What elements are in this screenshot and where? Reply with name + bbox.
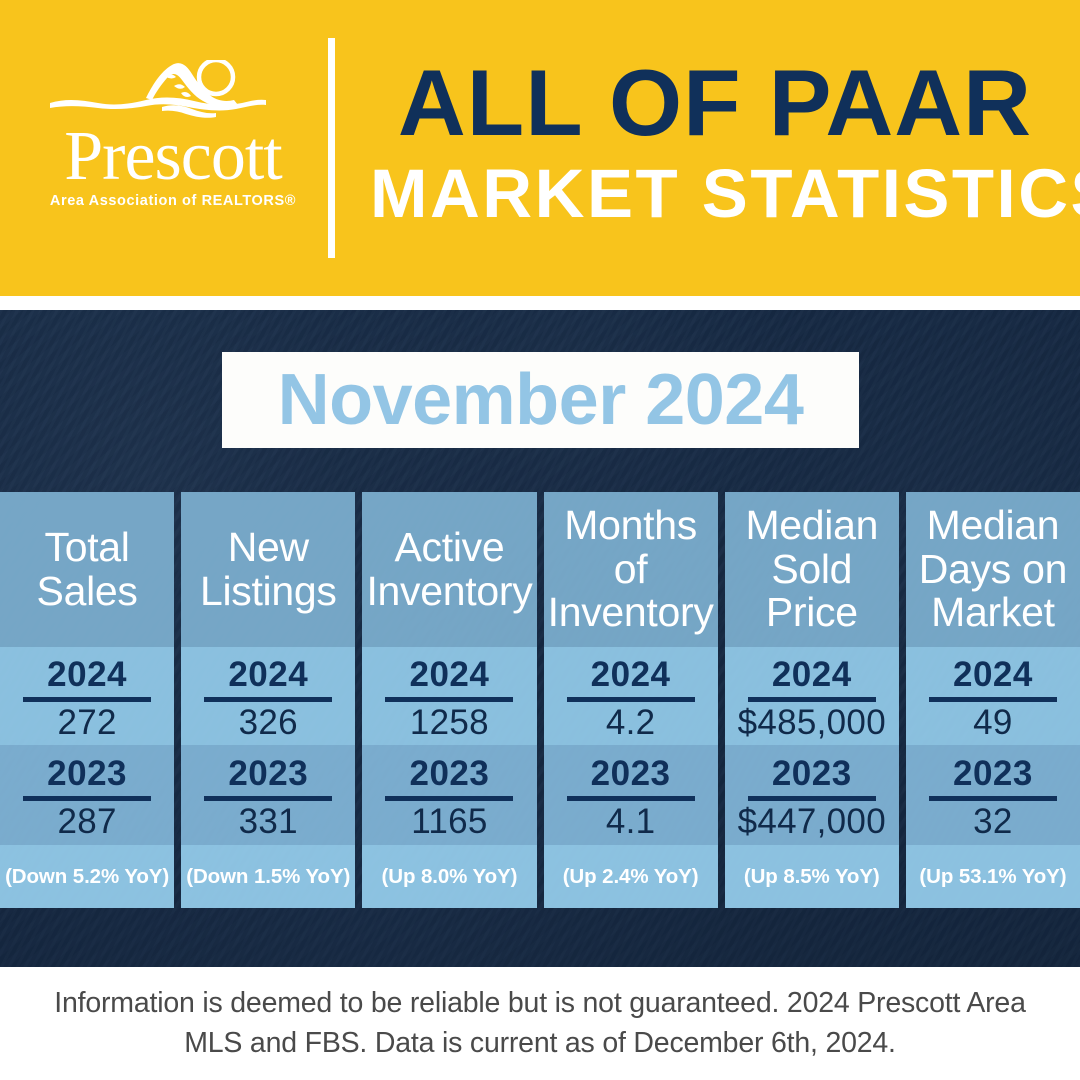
year-underline	[929, 796, 1057, 801]
stat-header-median-sold-price: MedianSoldPrice	[725, 492, 899, 647]
stat-column-new-listings: NewListings 2024 326 2023 331 (Down 1.5%…	[181, 492, 355, 908]
stat-value-2024: 326	[239, 705, 298, 742]
stat-value-2024: $485,000	[738, 705, 886, 742]
yoy-change-label: (Up 8.0% YoY)	[382, 865, 518, 889]
year-label-2024: 2024	[591, 657, 671, 692]
stat-2023-active-inventory: 2023 1165	[362, 745, 536, 845]
stat-value-2023: 331	[239, 804, 298, 841]
stat-column-median-sold-price: MedianSoldPrice 2024 $485,000 2023 $447,…	[725, 492, 899, 908]
stat-2024-median-days-on-market: 2024 49	[906, 647, 1080, 745]
year-underline	[385, 697, 513, 702]
stat-value-2024: 49	[973, 705, 1013, 742]
year-label-2023: 2023	[953, 756, 1033, 791]
stat-header-new-listings: NewListings	[181, 492, 355, 647]
logo-wordmark: Prescott	[28, 124, 318, 191]
page-title: ALL OF PAAR	[370, 52, 1060, 154]
year-label-2024: 2024	[47, 657, 127, 692]
footer: Information is deemed to be reliable but…	[0, 967, 1080, 1080]
stat-2023-total-sales: 2023 287	[0, 745, 174, 845]
year-underline	[204, 796, 332, 801]
year-underline	[23, 796, 151, 801]
year-underline	[567, 697, 695, 702]
stat-2024-new-listings: 2024 326	[181, 647, 355, 745]
year-label-2024: 2024	[409, 657, 489, 692]
stat-yoy-new-listings: (Down 1.5% YoY)	[181, 845, 355, 908]
prescott-mountain-sun-logo-icon	[48, 60, 298, 122]
stat-value-2024: 1258	[410, 705, 489, 742]
stat-header-label: TotalSales	[37, 526, 138, 613]
stat-value-2023: 4.1	[606, 804, 656, 841]
stat-2023-new-listings: 2023 331	[181, 745, 355, 845]
stat-header-label: ActiveInventory	[366, 526, 532, 613]
stat-header-label: MonthsofInventory	[548, 504, 714, 634]
year-label-2023: 2023	[47, 756, 127, 791]
header-banner: Prescott Area Association of REALTORS® A…	[0, 0, 1080, 296]
logo-tagline: Area Association of REALTORS®	[28, 193, 318, 209]
disclaimer-text: Information is deemed to be reliable but…	[40, 984, 1040, 1063]
stat-column-total-sales: TotalSales 2024 272 2023 287 (Down 5.2% …	[0, 492, 174, 908]
yoy-change-label: (Down 1.5% YoY)	[186, 865, 350, 889]
year-label-2023: 2023	[228, 756, 308, 791]
yoy-change-label: (Up 2.4% YoY)	[563, 865, 699, 889]
stat-header-total-sales: TotalSales	[0, 492, 174, 647]
year-underline	[929, 697, 1057, 702]
paar-logo: Prescott Area Association of REALTORS®	[28, 60, 318, 240]
market-statistics-infographic: Prescott Area Association of REALTORS® A…	[0, 0, 1080, 1080]
report-month-label: November 2024	[278, 364, 804, 436]
year-label-2023: 2023	[772, 756, 852, 791]
year-label-2023: 2023	[409, 756, 489, 791]
stat-column-median-days-on-market: MedianDays onMarket 2024 49 2023 32 (Up …	[906, 492, 1080, 908]
yoy-change-label: (Down 5.2% YoY)	[5, 865, 169, 889]
stat-yoy-active-inventory: (Up 8.0% YoY)	[362, 845, 536, 908]
header-vertical-divider	[328, 38, 335, 258]
stat-header-label: MedianSoldPrice	[745, 504, 878, 634]
stat-2024-months-of-inventory: 2024 4.2	[544, 647, 718, 745]
stat-value-2023: 1165	[411, 804, 487, 841]
stat-value-2024: 4.2	[606, 705, 656, 742]
yoy-change-label: (Up 8.5% YoY)	[744, 865, 880, 889]
stat-column-active-inventory: ActiveInventory 2024 1258 2023 1165 (Up …	[362, 492, 536, 908]
stat-2023-median-sold-price: 2023 $447,000	[725, 745, 899, 845]
stat-column-months-of-inventory: MonthsofInventory 2024 4.2 2023 4.1 (Up …	[544, 492, 718, 908]
stat-yoy-median-sold-price: (Up 8.5% YoY)	[725, 845, 899, 908]
stat-value-2023: 32	[973, 804, 1013, 841]
stat-header-label: NewListings	[200, 526, 337, 613]
date-banner: November 2024	[222, 352, 859, 448]
stat-2023-median-days-on-market: 2023 32	[906, 745, 1080, 845]
header-title-group: ALL OF PAAR MARKET STATISTICS	[370, 52, 1060, 231]
stat-2023-months-of-inventory: 2023 4.1	[544, 745, 718, 845]
stat-yoy-months-of-inventory: (Up 2.4% YoY)	[544, 845, 718, 908]
stat-value-2024: 272	[57, 705, 116, 742]
year-underline	[204, 697, 332, 702]
stat-value-2023: $447,000	[738, 804, 886, 841]
year-label-2024: 2024	[772, 657, 852, 692]
stat-header-median-days-on-market: MedianDays onMarket	[906, 492, 1080, 647]
stat-header-months-of-inventory: MonthsofInventory	[544, 492, 718, 647]
stat-yoy-total-sales: (Down 5.2% YoY)	[0, 845, 174, 908]
stat-yoy-median-days-on-market: (Up 53.1% YoY)	[906, 845, 1080, 908]
year-underline	[385, 796, 513, 801]
stat-header-label: MedianDays onMarket	[919, 504, 1067, 634]
stat-header-active-inventory: ActiveInventory	[362, 492, 536, 647]
page-subtitle: MARKET STATISTICS	[370, 156, 1060, 232]
year-underline	[748, 796, 876, 801]
stat-value-2023: 287	[57, 804, 116, 841]
stat-2024-active-inventory: 2024 1258	[362, 647, 536, 745]
stat-2024-total-sales: 2024 272	[0, 647, 174, 745]
year-underline	[23, 697, 151, 702]
year-label-2023: 2023	[591, 756, 671, 791]
year-label-2024: 2024	[228, 657, 308, 692]
year-underline	[567, 796, 695, 801]
statistics-table: TotalSales 2024 272 2023 287 (Down 5.2% …	[0, 492, 1080, 908]
stat-2024-median-sold-price: 2024 $485,000	[725, 647, 899, 745]
year-label-2024: 2024	[953, 657, 1033, 692]
year-underline	[748, 697, 876, 702]
yoy-change-label: (Up 53.1% YoY)	[919, 865, 1066, 889]
